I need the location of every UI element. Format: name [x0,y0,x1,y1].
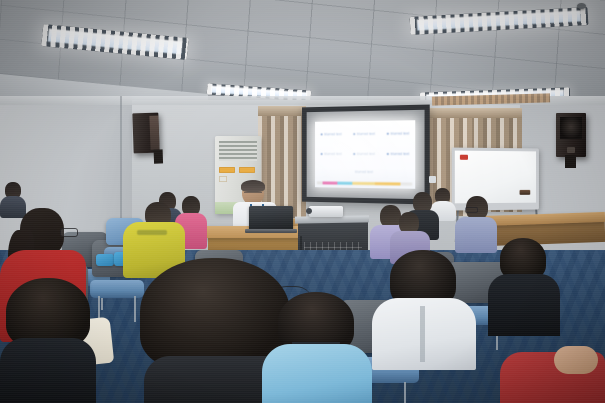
laptop-base [245,229,297,233]
projection-screen: blurred text blurred text blurred text b… [302,105,430,205]
ac-label-3 [219,176,227,182]
whiteboard-eraser-icon [520,190,531,195]
smoke-detector-icon [577,3,586,9]
presenter-glasses-icon [244,192,262,197]
speaker-left-icon [132,113,159,154]
glasses-icon [60,228,78,237]
attendee-black-shirt-right [488,238,560,334]
attendee-light-blue-shirt [262,292,372,403]
screen-pull-tab [429,176,436,183]
ac-label-1 [219,167,235,173]
projector-lens-icon [306,208,312,214]
attendee-white-shirt-center [372,250,476,370]
seminar-room-photo: blurred text blurred text blurred text b… [0,0,605,403]
attendee-red-right-foreground [500,352,605,403]
whiteboard-marker-icon [460,155,468,160]
seat-item-blue[interactable] [96,254,114,266]
ac-label-2 [239,167,255,173]
projection-screen-surface: blurred text blurred text blurred text b… [307,110,425,199]
ac-grill [219,141,257,161]
laptop-screen [249,206,293,230]
speaker-right-icon [556,113,586,157]
presenter-hair [241,180,265,192]
screen-glare [307,110,425,199]
attendee-dark-left-foreground [0,278,96,403]
projector [309,206,343,217]
glasses-icon [465,207,478,213]
